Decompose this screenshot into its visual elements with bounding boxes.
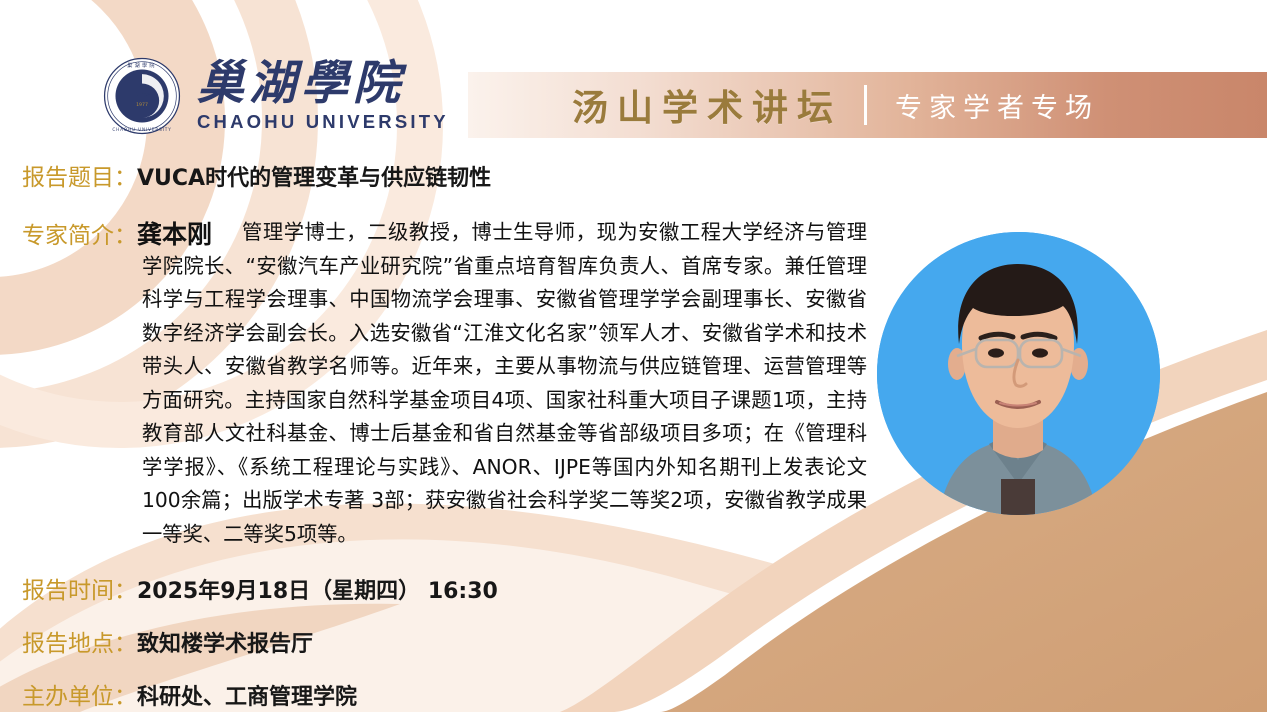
banner-divider-icon bbox=[864, 85, 867, 125]
value-lecture-place: 致知楼学术报告厅 bbox=[137, 626, 313, 658]
logo-name-cn: 巢湖學院 bbox=[197, 59, 405, 109]
row-lecture-time: 报告时间： 2025年9月18日（星期四） 16:30 bbox=[22, 571, 498, 605]
svg-text:1977: 1977 bbox=[136, 102, 148, 108]
poster-root: 1977 巢湖學院 CHAOHU UNIVERSITY 巢湖學院 CHAOHU … bbox=[0, 0, 1267, 712]
value-lecture-time: 2025年9月18日（星期四） 16:30 bbox=[137, 573, 498, 605]
speaker-portrait bbox=[877, 232, 1160, 515]
label-lecture-title: 报告题目： bbox=[22, 158, 137, 192]
logo-name-en: CHAOHU UNIVERSITY bbox=[197, 111, 449, 133]
row-lecture-title: 报告题目： VUCA时代的管理变革与供应链韧性 bbox=[22, 158, 491, 192]
university-logo: 1977 巢湖學院 CHAOHU UNIVERSITY 巢湖學院 CHAOHU … bbox=[103, 57, 449, 135]
value-lecture-title: VUCA时代的管理变革与供应链韧性 bbox=[137, 160, 491, 192]
value-organizer: 科研处、工商管理学院 bbox=[137, 679, 357, 711]
svg-text:巢湖學院: 巢湖學院 bbox=[127, 62, 157, 69]
label-speaker-bio: 专家简介： bbox=[22, 216, 137, 250]
poster-header: 1977 巢湖學院 CHAOHU UNIVERSITY 巢湖學院 CHAOHU … bbox=[0, 0, 1267, 152]
lecture-banner: 汤山学术讲坛 专家学者专场 bbox=[468, 72, 1267, 138]
row-lecture-place: 报告地点： 致知楼学术报告厅 bbox=[22, 624, 313, 658]
label-lecture-place: 报告地点： bbox=[22, 624, 137, 658]
speaker-bio-text: 管理学博士，二级教授，博士生导师，现为安徽工程大学经济与管理学院院长、“安徽汽车… bbox=[142, 216, 867, 551]
svg-text:CHAOHU UNIVERSITY: CHAOHU UNIVERSITY bbox=[112, 127, 171, 132]
row-organizer: 主办单位： 科研处、工商管理学院 bbox=[22, 677, 357, 711]
label-organizer: 主办单位： bbox=[22, 677, 137, 711]
banner-series-title: 汤山学术讲坛 bbox=[572, 79, 842, 131]
label-lecture-time: 报告时间： bbox=[22, 571, 137, 605]
banner-subtitle: 专家学者专场 bbox=[895, 86, 1099, 125]
university-seal-icon: 1977 巢湖學院 CHAOHU UNIVERSITY bbox=[103, 57, 181, 135]
